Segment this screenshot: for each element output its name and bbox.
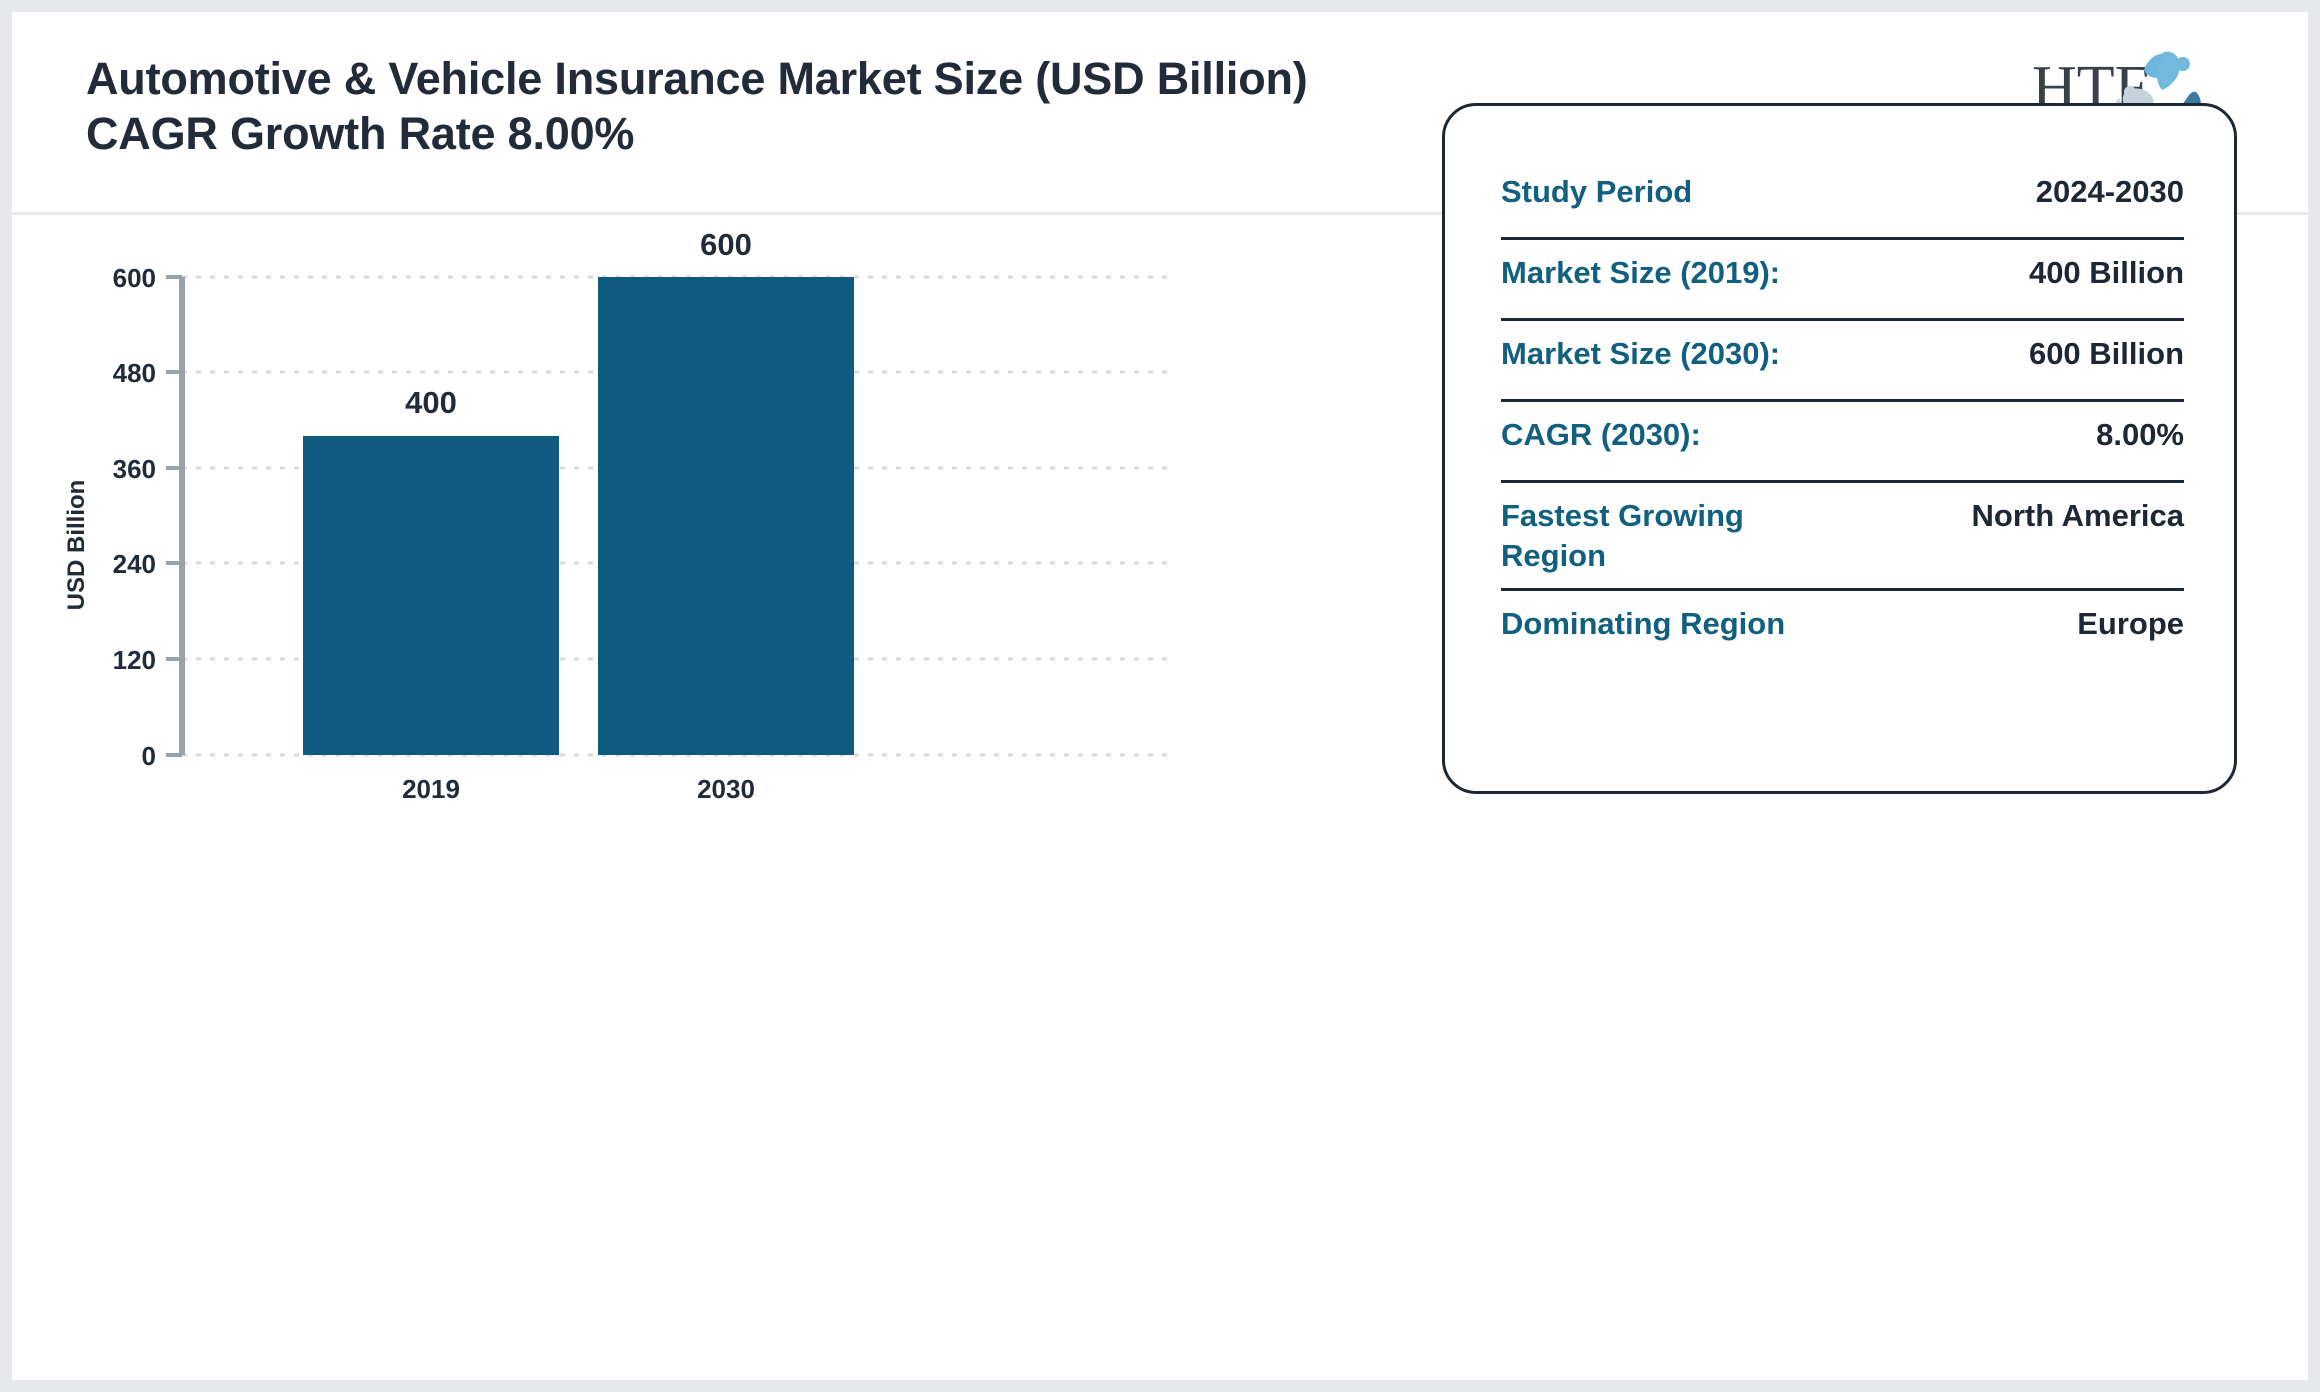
bar-2030[interactable] [598,277,854,755]
summary-row-label: Fastest Growing Region [1501,496,1841,575]
summary-row-label: Market Size (2030): [1501,334,1780,374]
y-tick-label: 360 [113,454,156,484]
y-tick-label: 0 [142,741,156,771]
y-tick-label: 480 [113,358,156,388]
y-tick-label: 240 [113,549,156,579]
bar-2019[interactable] [303,436,559,755]
infographic-page: Automotive & Vehicle Insurance Market Si… [12,12,2308,1380]
y-tick-label: 600 [113,263,156,293]
market-summary-rows: Study Period 2024-2030 Market Size (2019… [1501,159,2184,669]
summary-row-label: CAGR (2030): [1501,415,1701,455]
summary-row-value: North America [1972,496,2184,536]
bar-chart: 0 120 240 360 480 600 USD Billion 400 60… [12,215,1412,1380]
bar-value-label-2030: 600 [700,227,752,262]
summary-row-value: 600 Billion [2029,334,2184,374]
page-title: Automotive & Vehicle Insurance Market Si… [86,52,1436,162]
y-axis-title: USD Billion [63,480,90,611]
summary-row-value: 2024-2030 [2036,172,2184,212]
summary-row-label: Study Period [1501,172,1692,212]
summary-row-fastest-growing-region: Fastest Growing Region North America [1501,483,2184,591]
summary-row-cagr-2030: CAGR (2030): 8.00% [1501,402,2184,483]
x-tick-label-2019: 2019 [402,774,460,804]
summary-row-label: Dominating Region [1501,604,1785,644]
bar-value-label-2019: 400 [405,385,457,420]
summary-row-study-period: Study Period 2024-2030 [1501,159,2184,240]
summary-row-dominating-region: Dominating Region Europe [1501,591,2184,669]
summary-row-market-size-2019: Market Size (2019): 400 Billion [1501,240,2184,321]
y-axis-tick-labels: 0 120 240 360 480 600 [113,263,156,771]
y-tick-label: 120 [113,645,156,675]
market-summary-panel: Study Period 2024-2030 Market Size (2019… [1442,103,2237,794]
x-tick-label-2030: 2030 [697,774,755,804]
summary-row-value: 8.00% [2096,415,2184,455]
summary-row-label: Market Size (2019): [1501,253,1780,293]
summary-row-value: 400 Billion [2029,253,2184,293]
summary-row-market-size-2030: Market Size (2030): 600 Billion [1501,321,2184,402]
summary-row-value: Europe [2077,604,2184,644]
